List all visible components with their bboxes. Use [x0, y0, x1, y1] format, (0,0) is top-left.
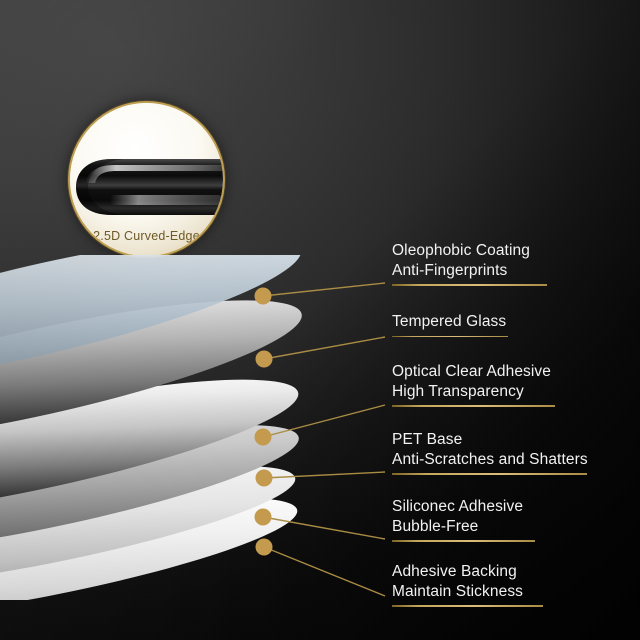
callout-line-1: Optical Clear Adhesive	[392, 363, 551, 380]
page-title: Overall Protection	[0, 26, 640, 78]
callout-label-2: Tempered Glass	[392, 312, 508, 337]
magnifier-inset: 2.5D Curved-Edge	[70, 103, 223, 256]
callout-line-1: Adhesive Backing	[392, 563, 517, 580]
callout-underline	[392, 605, 543, 607]
callout-underline	[392, 540, 535, 542]
callout-line-2: Anti-Fingerprints	[392, 261, 547, 281]
layer-stack-illustration	[0, 255, 350, 595]
callout-line-1: Tempered Glass	[392, 313, 506, 330]
callout-underline	[392, 473, 587, 475]
callout-line-2: High Transparency	[392, 382, 555, 402]
callout-label-5: Siliconec Adhesive Bubble-Free	[392, 497, 535, 542]
callout-line-1: Siliconec Adhesive	[392, 498, 523, 515]
callout-underline	[392, 336, 508, 338]
callout-line-1: Oleophobic Coating	[392, 242, 530, 259]
callout-label-6: Adhesive Backing Maintain Stickness	[392, 562, 543, 607]
callout-line-2: Maintain Stickness	[392, 582, 543, 602]
callout-underline	[392, 405, 555, 407]
callout-label-3: Optical Clear Adhesive High Transparency	[392, 362, 555, 407]
callout-line-1: PET Base	[392, 431, 462, 448]
callout-line-2: Anti-Scratches and Shatters	[392, 450, 588, 470]
callout-label-1: Oleophobic Coating Anti-Fingerprints	[392, 241, 547, 286]
callout-underline	[392, 284, 547, 286]
callout-label-4: PET Base Anti-Scratches and Shatters	[392, 430, 588, 475]
callout-line-2: Bubble-Free	[392, 517, 535, 537]
infographic-canvas: Overall Protection	[0, 0, 640, 640]
magnifier-caption: 2.5D Curved-Edge	[70, 229, 223, 243]
